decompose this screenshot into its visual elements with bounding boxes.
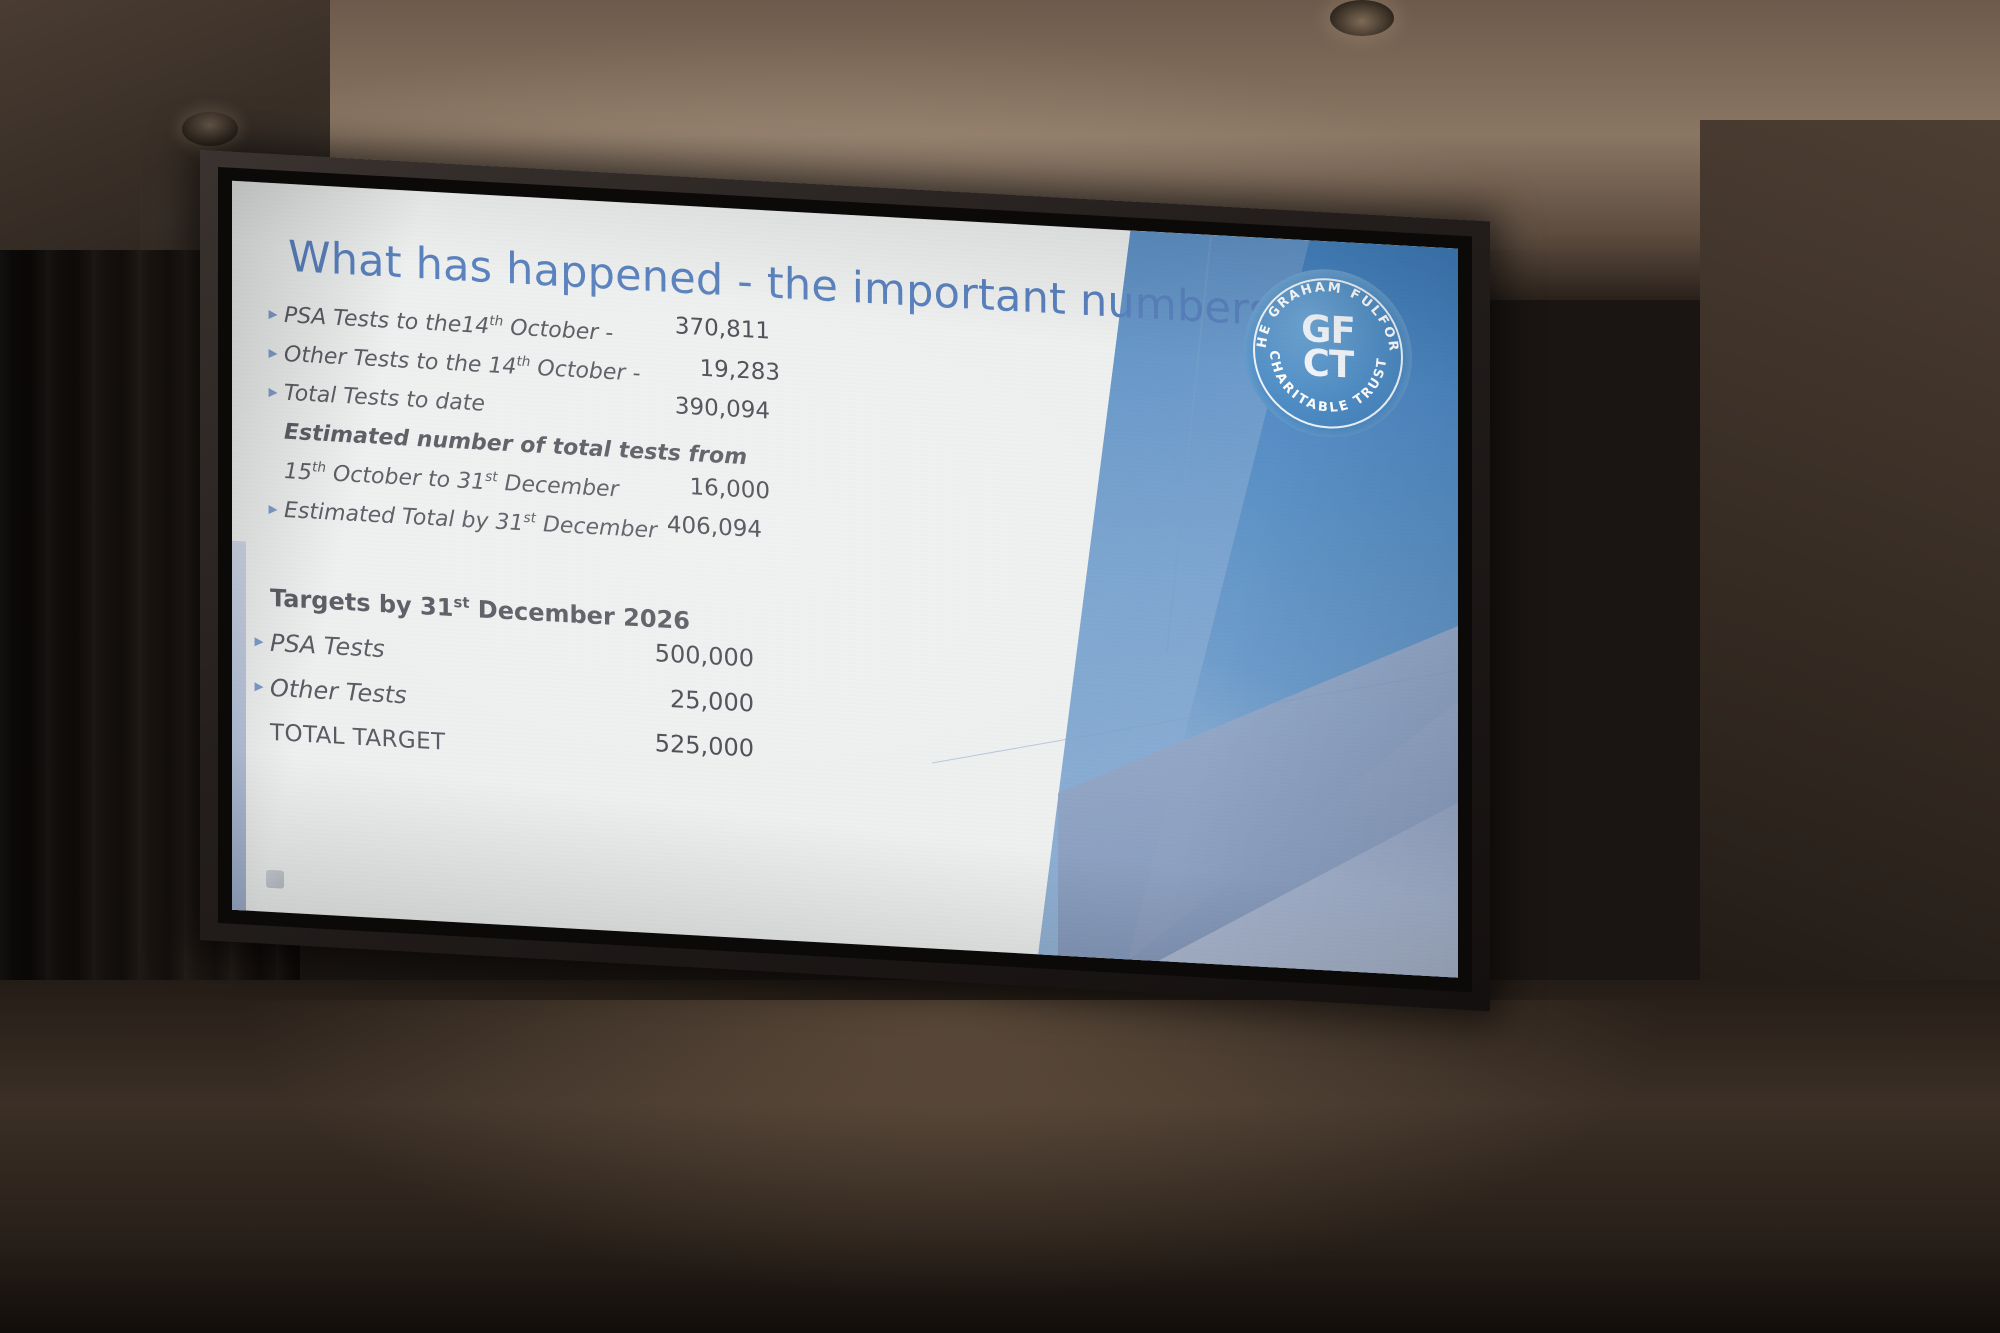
triangle-bullet-icon: ► <box>262 306 284 322</box>
triangle-bullet-icon: ► <box>262 345 284 361</box>
projection-screen-frame: What has happened - the important number… <box>200 150 1490 1011</box>
targets-list: ► Targets by 31st December 2026 ► PSA Te… <box>248 574 888 789</box>
total-target-label: TOTAL TARGET <box>270 719 445 755</box>
no-bullet-spacer: ► <box>248 724 270 740</box>
list-item-label: Other Tests <box>270 673 407 709</box>
no-bullet-spacer: ► <box>262 423 284 439</box>
logo-monogram: GF CT <box>1244 309 1412 386</box>
important-numbers-list: ► PSA Tests to the14th October - 370,811… <box>262 294 882 562</box>
triangle-bullet-icon: ► <box>262 384 284 400</box>
list-item-value: 370,811 <box>600 309 770 344</box>
list-item-label: PSA Tests <box>270 628 385 662</box>
triangle-bullet-icon: ► <box>262 501 284 517</box>
meeting-room-scene: What has happened - the important number… <box>0 0 2000 1333</box>
presentation-slide: What has happened - the important number… <box>232 181 1458 978</box>
gfct-logo: THE GRAHAM FULFORD CHARITABLE TRUST GF C… <box>1244 265 1412 442</box>
projection-screen-bezel: What has happened - the important number… <box>218 167 1472 992</box>
no-bullet-spacer: ► <box>262 462 284 478</box>
list-item-label: Total Tests to date <box>284 381 485 417</box>
no-bullet-spacer: ► <box>248 589 270 605</box>
triangle-bullet-icon: ► <box>248 679 270 695</box>
slide-corner-watermark-icon <box>266 870 284 889</box>
triangle-bullet-icon: ► <box>248 634 270 650</box>
